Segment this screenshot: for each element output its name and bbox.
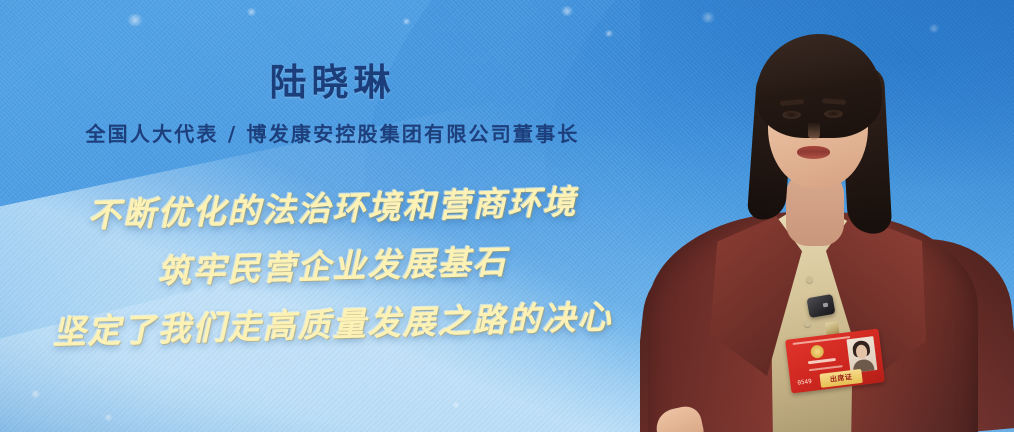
eye-right xyxy=(824,110,843,118)
speaker-title: 全国人大代表 / 博发康安控股集团有限公司董事长 xyxy=(0,118,665,147)
badge-tag-label: 出席证 xyxy=(819,369,862,388)
national-emblem-icon xyxy=(810,344,824,358)
speaker-portrait: 0549 出席证 xyxy=(640,0,1014,432)
delegate-badge: 0549 出席证 xyxy=(785,328,885,393)
badge-header-line xyxy=(792,336,850,345)
speaker-name: 陆晓琳 xyxy=(0,52,665,106)
text-block: 陆晓琳 全国人大代表 / 博发康安控股集团有限公司董事长 不断优化的法治环境和营… xyxy=(0,0,665,432)
quote-line-1: 不断优化的法治环境和营商环境 xyxy=(0,173,666,240)
badge-name-line xyxy=(808,358,836,364)
quote-line-3: 坚定了我们走高质量发展之路的决心 xyxy=(0,289,666,356)
blouse-button xyxy=(806,276,813,283)
microphone-led-icon xyxy=(823,303,829,308)
badge-number: 0549 xyxy=(797,378,812,387)
nose xyxy=(808,122,820,140)
badge-role-line xyxy=(809,365,843,371)
eye-left xyxy=(782,111,801,119)
quote-line-2: 筑牢民营企业发展基石 xyxy=(0,231,666,298)
mouth xyxy=(797,146,830,159)
quote-card: 陆晓琳 全国人大代表 / 博发康安控股集团有限公司董事长 不断优化的法治环境和营… xyxy=(0,0,1014,432)
blouse-button xyxy=(804,320,811,327)
id-photo-icon xyxy=(846,336,877,373)
